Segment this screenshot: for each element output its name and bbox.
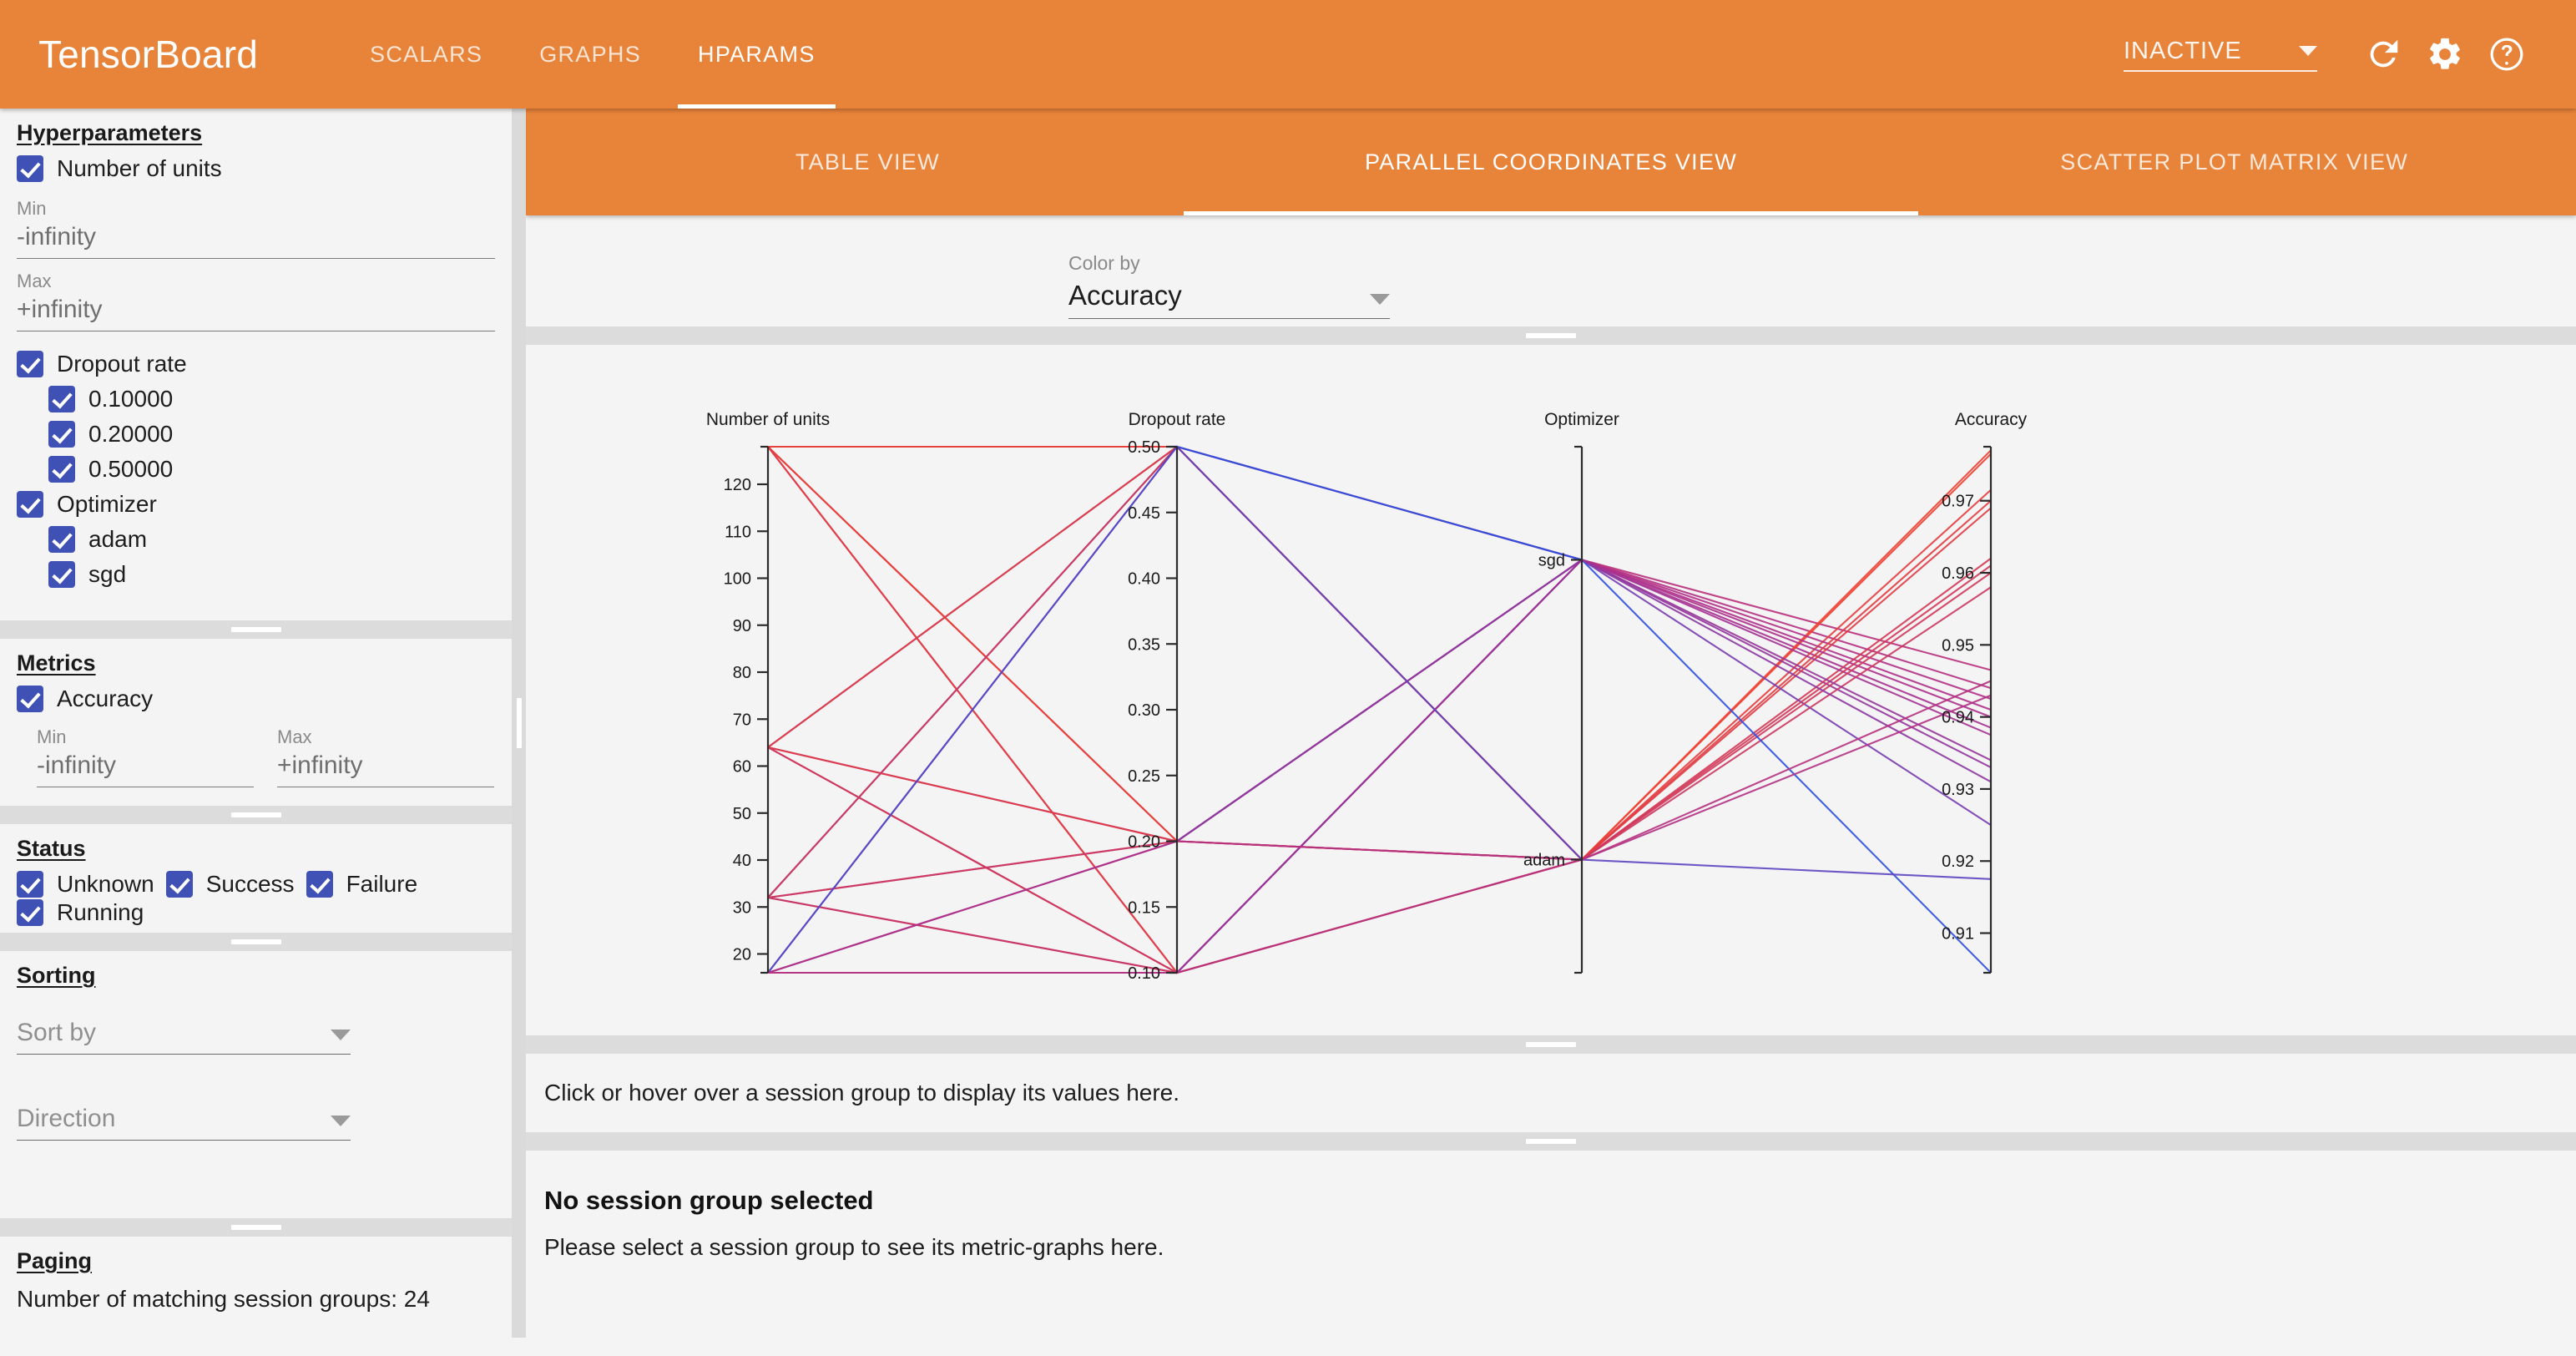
field-units-max: Max +infinity xyxy=(17,259,495,331)
checkbox-status-failure[interactable] xyxy=(306,871,333,898)
chevron-down-icon xyxy=(1370,294,1390,305)
metrics-range-row: Min -infinity Max +infinity xyxy=(17,716,495,787)
reload-status-dropdown[interactable]: INACTIVE xyxy=(2124,38,2317,72)
color-by-field: Color by Accuracy xyxy=(1068,252,1390,319)
pc-tick-label: 0.30 xyxy=(1128,701,1160,720)
input-accuracy-max[interactable]: +infinity xyxy=(277,751,494,787)
select-sort-by-value: Sort by xyxy=(17,1019,96,1047)
tab-scalars[interactable]: SCALARS xyxy=(341,0,511,109)
splitter-grip xyxy=(1526,1139,1576,1144)
field-sort-by: Sort by xyxy=(17,994,495,1055)
select-direction[interactable]: Direction xyxy=(17,1105,351,1141)
help-icon[interactable] xyxy=(2476,23,2538,85)
checkbox-number-of-units[interactable] xyxy=(17,155,43,182)
splitter-grip xyxy=(231,939,281,944)
gear-icon[interactable] xyxy=(2414,23,2476,85)
main-content: TABLE VIEW PARALLEL COORDINATES VIEW SCA… xyxy=(526,109,2576,1338)
chart-splitter-bottom[interactable] xyxy=(526,1035,2576,1054)
pc-tick-label: 20 xyxy=(733,946,751,964)
reload-icon[interactable] xyxy=(2352,23,2414,85)
pc-tick-label: 100 xyxy=(724,570,751,589)
session-group-panel: No session group selected Please select … xyxy=(526,1151,2576,1356)
tab-graphs[interactable]: GRAPHS xyxy=(511,0,669,109)
label-optimizer-adam: adam xyxy=(88,526,147,553)
label-units-max: Max xyxy=(17,271,495,292)
field-units-min: Min -infinity xyxy=(17,186,495,259)
hover-values-panel: Click or hover over a session group to d… xyxy=(526,1054,2576,1132)
pc-tick-label: 0.94 xyxy=(1942,709,1974,727)
pc-session-line[interactable] xyxy=(768,447,1991,842)
checkbox-status-success[interactable] xyxy=(166,871,193,898)
pc-tick-label: 110 xyxy=(725,523,751,541)
label-dropout-1: 0.20000 xyxy=(88,421,173,448)
sidebar-resize-handle[interactable] xyxy=(512,109,526,1338)
parallel-coordinates-chart[interactable]: Number of units2030405060708090100110120… xyxy=(526,345,2576,1035)
pc-tick-label: 0.10 xyxy=(1128,964,1160,983)
splitter-grip xyxy=(1526,333,1576,338)
pc-session-line[interactable] xyxy=(768,587,1991,973)
tab-graphs-label: GRAPHS xyxy=(539,42,641,68)
panel-sorting: Sorting Sort by Direction xyxy=(0,951,512,1218)
pc-tick-label: 0.25 xyxy=(1128,767,1160,786)
pc-session-line[interactable] xyxy=(768,447,1991,898)
pc-tick-label: adam xyxy=(1523,852,1565,870)
splitter-grip xyxy=(517,698,522,748)
pc-tick-label: 0.95 xyxy=(1942,636,1974,655)
splitter-grip xyxy=(231,627,281,632)
checkbox-row-dropout-1[interactable]: 0.20000 xyxy=(17,417,495,452)
checkbox-accuracy[interactable] xyxy=(17,686,43,712)
parallel-coordinates-svg[interactable]: Number of units2030405060708090100110120… xyxy=(526,345,2576,1035)
paging-count-text: Number of matching session groups: 24 xyxy=(17,1279,495,1313)
panel-metrics: Metrics Accuracy Min -infinity Max +infi… xyxy=(0,639,512,806)
input-units-max[interactable]: +infinity xyxy=(17,296,495,331)
pc-session-line[interactable] xyxy=(768,559,1991,898)
pc-tick-label: 30 xyxy=(733,898,751,917)
pc-tick-label: 60 xyxy=(733,758,751,777)
label-dropout-2: 0.50000 xyxy=(88,456,173,483)
pc-tick-label: 0.35 xyxy=(1128,635,1160,654)
pc-tick-label: 0.50 xyxy=(1128,438,1160,457)
label-accuracy-max: Max xyxy=(277,726,494,748)
pc-session-line[interactable] xyxy=(768,447,1991,728)
pc-tick-label: 0.15 xyxy=(1128,898,1160,917)
pc-axis-title[interactable]: Optimizer xyxy=(1544,410,1619,429)
hover-hint-text: Click or hover over a session group to d… xyxy=(544,1080,1179,1106)
label-dropout-rate: Dropout rate xyxy=(57,351,187,377)
field-accuracy-max: Max +infinity xyxy=(277,726,494,787)
tab-table-view-label: TABLE VIEW xyxy=(796,149,940,175)
paging-title: Paging xyxy=(17,1237,495,1279)
checkbox-optimizer-adam[interactable] xyxy=(48,526,75,553)
label-optimizer: Optimizer xyxy=(57,491,157,518)
splitter-grip xyxy=(1526,1042,1576,1047)
checkbox-row-accuracy[interactable]: Accuracy xyxy=(17,681,495,716)
label-status-running: Running xyxy=(57,899,144,926)
label-units-min: Min xyxy=(17,198,495,220)
session-splitter[interactable] xyxy=(526,1132,2576,1151)
session-panel-subtitle: Please select a session group to see its… xyxy=(544,1234,2558,1261)
pc-session-line[interactable] xyxy=(768,681,1991,973)
pc-tick-label: 0.97 xyxy=(1942,493,1974,511)
pc-tick-label: 80 xyxy=(733,664,751,682)
tab-hparams[interactable]: HPARAMS xyxy=(669,0,844,109)
pc-tick-label: 0.20 xyxy=(1128,833,1160,852)
label-number-of-units: Number of units xyxy=(57,155,222,182)
field-direction: Direction xyxy=(17,1055,495,1141)
color-by-bar: Color by Accuracy xyxy=(526,215,2576,326)
chevron-down-icon xyxy=(2299,46,2317,56)
label-accuracy: Accuracy xyxy=(57,686,153,712)
sorting-title: Sorting xyxy=(17,951,495,994)
pc-tick-label: 90 xyxy=(733,617,751,635)
hyperparameters-title: Hyperparameters xyxy=(17,109,495,151)
sidebar: Hyperparameters Number of units Min -inf… xyxy=(0,109,512,1338)
app-bar: TensorBoard SCALARS GRAPHS HPARAMS INACT… xyxy=(0,0,2576,109)
tab-parallel-coordinates-view-label: PARALLEL COORDINATES VIEW xyxy=(1365,149,1737,175)
checkbox-row-number-of-units[interactable]: Number of units xyxy=(17,151,495,186)
checkbox-dropout-1[interactable] xyxy=(48,421,75,448)
view-tab-bar: TABLE VIEW PARALLEL COORDINATES VIEW SCA… xyxy=(526,109,2576,215)
top-tab-bar: SCALARS GRAPHS HPARAMS xyxy=(341,0,844,109)
checkbox-status-unknown[interactable] xyxy=(17,871,43,898)
pc-axis-group: Number of units2030405060708090100110120… xyxy=(706,410,2028,983)
checkbox-optimizer[interactable] xyxy=(17,491,43,518)
panel-status: Status Unknown Success Failure Running xyxy=(0,824,512,933)
chevron-down-icon xyxy=(331,1030,351,1040)
color-by-label: Color by xyxy=(1068,252,1390,275)
pc-tick-label: 0.92 xyxy=(1942,853,1974,871)
color-by-value: Accuracy xyxy=(1068,280,1182,311)
checkbox-row-dropout-0[interactable]: 0.10000 xyxy=(17,382,495,417)
splitter-grip xyxy=(231,1225,281,1230)
label-accuracy-min: Min xyxy=(37,726,254,748)
status-title: Status xyxy=(17,824,495,867)
pc-tick-label: 70 xyxy=(733,711,751,729)
panel-hyperparameters: Hyperparameters Number of units Min -inf… xyxy=(0,109,512,620)
brand-title: TensorBoard xyxy=(38,32,258,77)
chevron-down-icon xyxy=(331,1116,351,1126)
checkbox-row-dropout-2[interactable]: 0.50000 xyxy=(17,452,495,487)
select-direction-value: Direction xyxy=(17,1105,115,1133)
checkbox-row-status-running[interactable]: Running xyxy=(17,895,144,930)
panel-paging: Paging Number of matching session groups… xyxy=(0,1237,512,1338)
checkbox-row-optimizer[interactable]: Optimizer xyxy=(17,487,495,522)
pc-session-line[interactable] xyxy=(768,447,1991,898)
label-dropout-0: 0.10000 xyxy=(88,386,173,412)
checkbox-dropout-0[interactable] xyxy=(48,386,75,412)
tab-scatter-plot-matrix-view[interactable]: SCATTER PLOT MATRIX VIEW xyxy=(1892,109,2576,215)
session-panel-title: No session group selected xyxy=(544,1186,2558,1216)
reload-status-value: INACTIVE xyxy=(2124,38,2242,65)
tab-table-view[interactable]: TABLE VIEW xyxy=(526,109,1210,215)
sidebar-splitter-4[interactable] xyxy=(0,1218,512,1237)
checkbox-row-optimizer-0[interactable]: adam xyxy=(17,522,495,557)
checkbox-row-status-failure[interactable]: Failure xyxy=(306,867,418,902)
splitter-grip xyxy=(231,812,281,817)
pc-axis-title[interactable]: Number of units xyxy=(706,410,830,429)
color-by-select[interactable]: Accuracy xyxy=(1068,280,1390,319)
pc-tick-label: 40 xyxy=(733,852,751,870)
checkbox-status-running[interactable] xyxy=(17,899,43,926)
tab-parallel-coordinates-view[interactable]: PARALLEL COORDINATES VIEW xyxy=(1210,109,1893,215)
pc-tick-label: 0.45 xyxy=(1128,504,1160,523)
tab-hparams-label: HPARAMS xyxy=(698,42,816,68)
select-sort-by[interactable]: Sort by xyxy=(17,1019,351,1055)
pc-tick-label: 0.93 xyxy=(1942,781,1974,799)
tab-scatter-plot-matrix-view-label: SCATTER PLOT MATRIX VIEW xyxy=(2060,149,2408,175)
sidebar-splitter-3[interactable] xyxy=(0,933,512,951)
pc-axis-title[interactable]: Dropout rate xyxy=(1129,410,1226,429)
checkbox-row-optimizer-1[interactable]: sgd xyxy=(17,557,495,592)
label-status-success: Success xyxy=(206,871,295,898)
label-optimizer-sgd: sgd xyxy=(88,561,126,588)
pc-session-line[interactable] xyxy=(768,559,1991,973)
sidebar-splitter-1[interactable] xyxy=(0,620,512,639)
pc-tick-label: 0.96 xyxy=(1942,564,1974,583)
chart-splitter-top[interactable] xyxy=(526,326,2576,345)
label-status-unknown: Unknown xyxy=(57,871,154,898)
metrics-title: Metrics xyxy=(17,639,495,681)
checkbox-row-status-success[interactable]: Success xyxy=(166,867,295,902)
checkbox-dropout-2[interactable] xyxy=(48,456,75,483)
input-units-min[interactable]: -infinity xyxy=(17,223,495,259)
pc-tick-label: 50 xyxy=(733,805,751,823)
pc-tick-label: 0.91 xyxy=(1942,925,1974,944)
app-bar-actions: INACTIVE xyxy=(2124,23,2538,85)
field-accuracy-min: Min -infinity xyxy=(37,726,254,787)
pc-line-group xyxy=(768,447,1991,973)
checkbox-dropout-rate[interactable] xyxy=(17,351,43,377)
input-accuracy-min[interactable]: -infinity xyxy=(37,751,254,787)
pc-tick-label: 120 xyxy=(724,476,751,494)
checkbox-row-dropout-rate[interactable]: Dropout rate xyxy=(17,347,495,382)
checkbox-optimizer-sgd[interactable] xyxy=(48,561,75,588)
label-status-failure: Failure xyxy=(346,871,418,898)
pc-tick-label: 0.40 xyxy=(1128,570,1160,589)
pc-session-line[interactable] xyxy=(768,447,1991,767)
sidebar-splitter-2[interactable] xyxy=(0,806,512,824)
pc-axis-title[interactable]: Accuracy xyxy=(1955,410,2028,429)
pc-tick-label: sgd xyxy=(1538,551,1565,569)
tab-scalars-label: SCALARS xyxy=(370,42,482,68)
